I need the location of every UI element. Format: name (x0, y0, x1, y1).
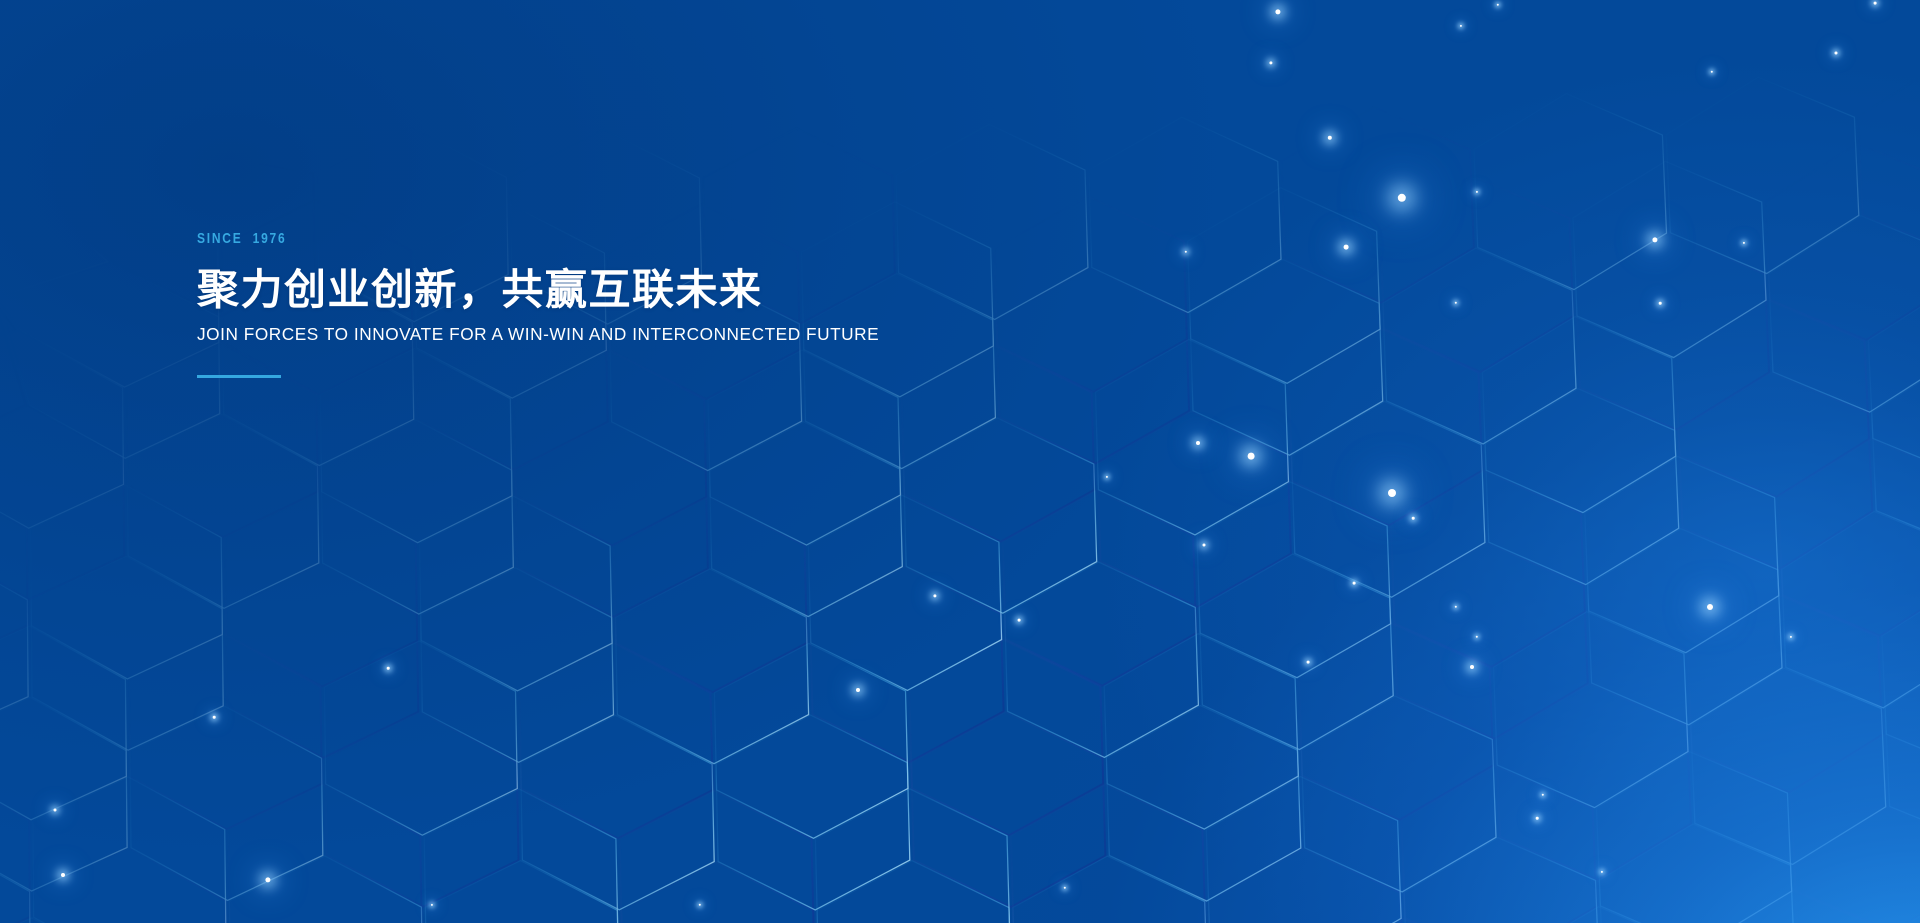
hero-copy-block: SINCE 1976 聚力创业创新，共赢互联未来 JOIN FORCES TO … (197, 231, 1097, 378)
eyebrow-since-label: SINCE 1976 (197, 231, 917, 246)
page-title: 聚力创业创新，共赢互联未来 (197, 265, 1097, 315)
hero-banner: SINCE 1976 聚力创业创新，共赢互联未来 JOIN FORCES TO … (0, 0, 1920, 923)
page-subtitle: JOIN FORCES TO INNOVATE FOR A WIN-WIN AN… (197, 324, 1084, 345)
accent-divider (197, 375, 281, 378)
background-vignette (0, 0, 1920, 923)
